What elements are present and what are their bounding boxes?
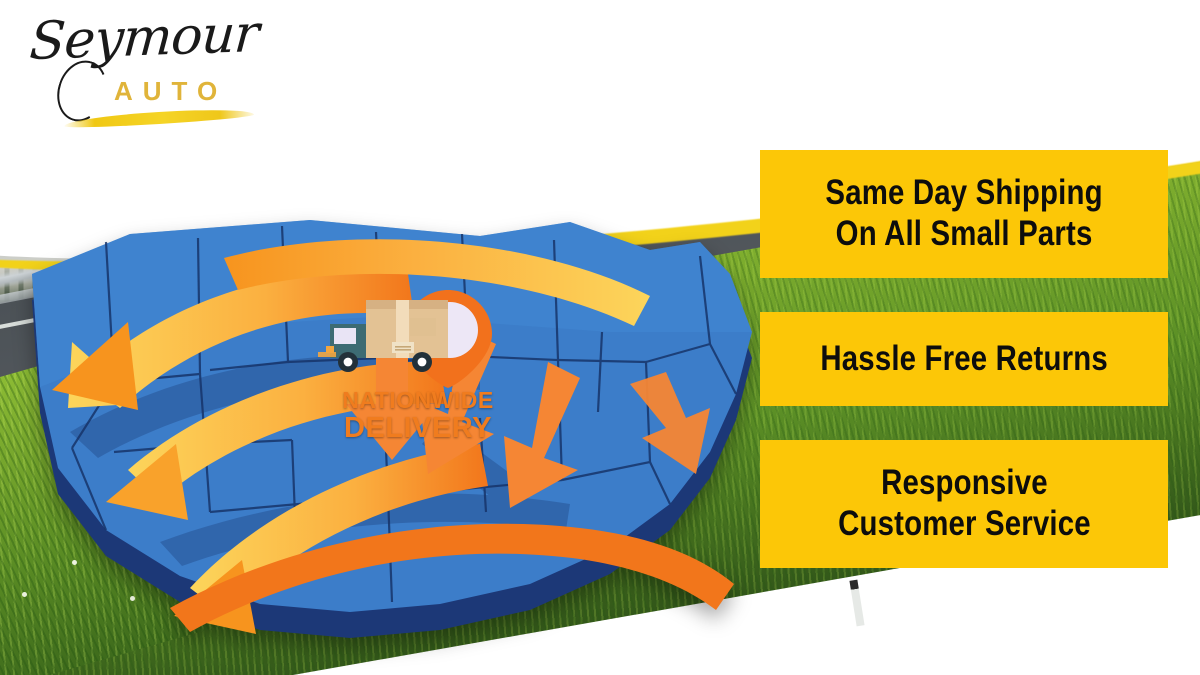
badge-caption: NATIONWIDE DELIVERY (318, 388, 518, 444)
badge-line-1: NATIONWIDE (318, 388, 518, 413)
delivery-truck-icon (318, 300, 448, 372)
badge-line-2: DELIVERY (318, 413, 518, 444)
promotional-banner: Seymour AUTO (0, 0, 1200, 675)
feature-box-hassle-free-returns[interactable]: Hassle Free Returns (760, 312, 1168, 406)
feature-text: Same Day Shipping On All Small Parts (825, 173, 1102, 254)
roadside-marker-post (849, 580, 864, 627)
feature-text: Responsive Customer Service (838, 463, 1091, 544)
feature-text: Hassle Free Returns (820, 339, 1108, 380)
brand-logo[interactable]: Seymour AUTO (28, 16, 278, 126)
feature-box-same-day-shipping[interactable]: Same Day Shipping On All Small Parts (760, 150, 1168, 278)
logo-wordmark: Seymour (28, 7, 282, 68)
feature-box-responsive-customer-service[interactable]: Responsive Customer Service (760, 440, 1168, 568)
nationwide-delivery-badge: NATIONWIDE DELIVERY (318, 284, 518, 454)
logo-sub-wordmark: AUTO (114, 78, 227, 104)
